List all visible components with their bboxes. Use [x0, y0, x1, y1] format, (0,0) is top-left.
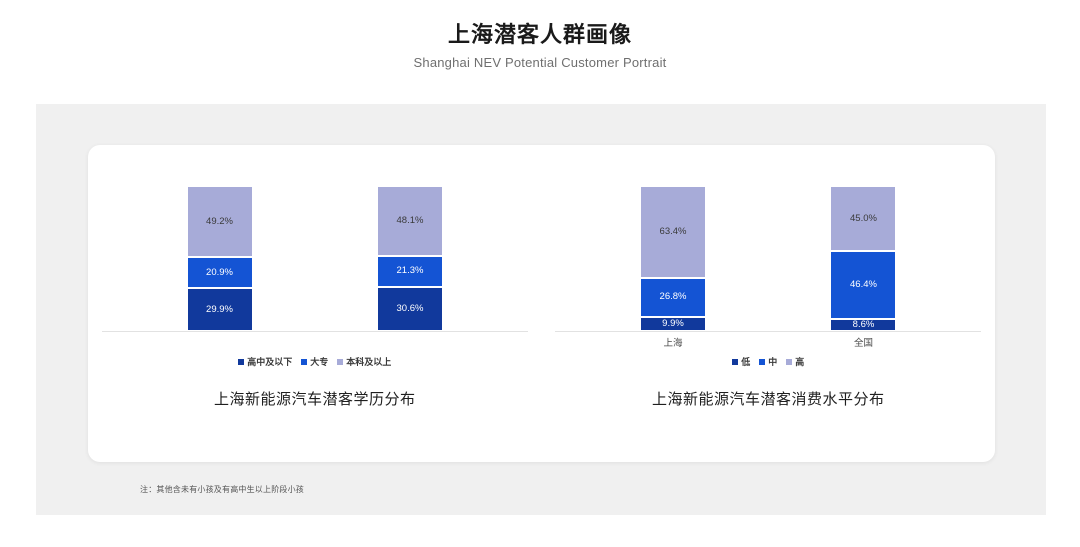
bar-segment[interactable]: 49.2% [188, 186, 252, 257]
legend-label: 中 [768, 355, 777, 368]
charts-row: 49.2% 20.9% 29.9% 48.1% 21.3% 30.6% 高中及以… [88, 145, 995, 462]
legend-swatch-icon [759, 359, 765, 365]
category-labels-consumption: 上海全国 [578, 335, 959, 349]
legend-item[interactable]: 低 [732, 355, 750, 368]
legend-item[interactable]: 高 [786, 355, 804, 368]
bars-consumption: 63.4% 26.8% 9.9% 45.0% 46.4% 8.6% [578, 185, 959, 331]
content-panel: 49.2% 20.9% 29.9% 48.1% 21.3% 30.6% 高中及以… [36, 104, 1046, 515]
category-label: 全国 [831, 335, 895, 349]
bar-segment[interactable]: 29.9% [188, 288, 252, 331]
bar-column[interactable]: 49.2% 20.9% 29.9% [188, 186, 252, 331]
bar-segment[interactable]: 26.8% [641, 278, 705, 317]
chart-card: 49.2% 20.9% 29.9% 48.1% 21.3% 30.6% 高中及以… [88, 145, 995, 462]
chart-caption-education: 上海新能源汽车潜客学历分布 [88, 388, 542, 409]
legend-item[interactable]: 高中及以下 [238, 355, 292, 368]
bar-column[interactable]: 48.1% 21.3% 30.6% [378, 186, 442, 331]
chart-footnote: 注：其他含未有小孩及有高中生以上阶段小孩 [140, 484, 304, 495]
bar-segment[interactable]: 48.1% [378, 186, 442, 256]
legend-label: 高 [795, 355, 804, 368]
bar-segment[interactable]: 8.6% [831, 319, 895, 331]
legend-swatch-icon [238, 359, 244, 365]
legend-consumption: 低中高 [542, 355, 996, 368]
x-axis-line [555, 331, 981, 332]
legend-label: 大专 [310, 355, 328, 368]
plot-area-education: 49.2% 20.9% 29.9% 48.1% 21.3% 30.6% [88, 185, 542, 331]
legend-education: 高中及以下大专本科及以上 [88, 355, 542, 368]
legend-swatch-icon [301, 359, 307, 365]
bar-segment[interactable]: 21.3% [378, 256, 442, 287]
chart-education: 49.2% 20.9% 29.9% 48.1% 21.3% 30.6% 高中及以… [88, 145, 542, 462]
legend-swatch-icon [786, 359, 792, 365]
legend-swatch-icon [337, 359, 343, 365]
page-title: 上海潜客人群画像 [0, 22, 1080, 48]
legend-swatch-icon [732, 359, 738, 365]
category-label: 上海 [641, 335, 705, 349]
bar-segment[interactable]: 9.9% [641, 317, 705, 331]
bar-segment[interactable]: 45.0% [831, 186, 895, 251]
plot-area-consumption: 63.4% 26.8% 9.9% 45.0% 46.4% 8.6% [542, 185, 996, 331]
legend-label: 本科及以上 [346, 355, 391, 368]
bar-column[interactable]: 45.0% 46.4% 8.6% [831, 186, 895, 331]
legend-item[interactable]: 本科及以上 [337, 355, 391, 368]
bar-segment[interactable]: 30.6% [378, 287, 442, 331]
bar-segment[interactable]: 46.4% [831, 251, 895, 318]
chart-caption-consumption: 上海新能源汽车潜客消费水平分布 [542, 388, 996, 409]
bars-education: 49.2% 20.9% 29.9% 48.1% 21.3% 30.6% [124, 185, 505, 331]
legend-item[interactable]: 中 [759, 355, 777, 368]
bar-column[interactable]: 63.4% 26.8% 9.9% [641, 186, 705, 331]
legend-label: 低 [741, 355, 750, 368]
chart-consumption: 63.4% 26.8% 9.9% 45.0% 46.4% 8.6% 上海全国 低… [542, 145, 996, 462]
bar-segment[interactable]: 20.9% [188, 257, 252, 287]
bar-segment[interactable]: 63.4% [641, 186, 705, 278]
page-subtitle: Shanghai NEV Potential Customer Portrait [0, 55, 1080, 70]
page-header: 上海潜客人群画像 Shanghai NEV Potential Customer… [0, 0, 1080, 70]
x-axis-line [102, 331, 528, 332]
legend-label: 高中及以下 [247, 355, 292, 368]
legend-item[interactable]: 大专 [301, 355, 328, 368]
